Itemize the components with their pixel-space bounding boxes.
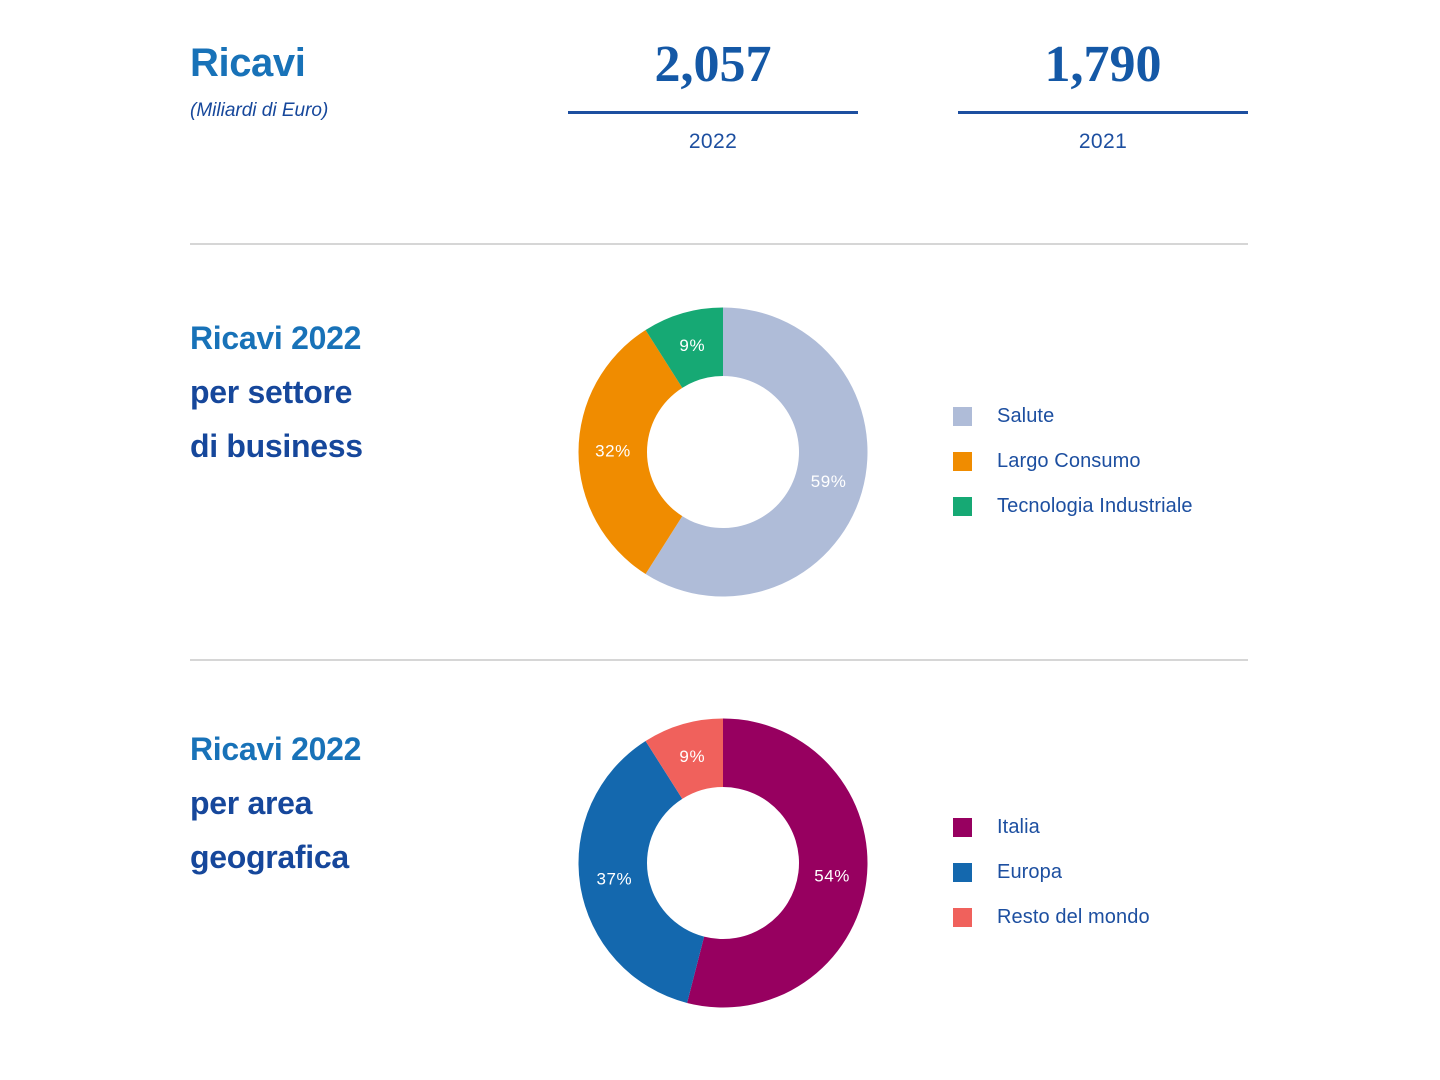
kpi-value: 1,790 — [958, 36, 1248, 94]
legend-item-label: Resto del mondo — [997, 906, 1150, 929]
legend-item-label: Tecnologia Industriale — [997, 495, 1193, 518]
page-title: Ricavi — [190, 42, 305, 84]
donut-slice-label: 59% — [811, 472, 847, 491]
donut-slice-label: 9% — [679, 747, 705, 766]
kpi-column-2022: 2,057 2022 — [568, 36, 858, 154]
infographic-page: Ricavi (Miliardi di Euro) 2,057 2022 1,7… — [0, 0, 1440, 1080]
donut-svg: 59%32%9% — [578, 300, 868, 604]
donut-slices — [579, 719, 868, 1008]
legend-swatch-icon — [953, 497, 972, 516]
section-title: Ricavi 2022 per area geografica — [190, 723, 520, 884]
legend-swatch-icon — [953, 863, 972, 882]
legend-item[interactable]: Largo Consumo — [953, 439, 1193, 484]
legend-item-label: Largo Consumo — [997, 450, 1141, 473]
donut-chart-business-sector: 59%32%9% — [578, 300, 868, 604]
section-title-line2: per settore — [190, 366, 520, 420]
legend-item-label: Salute — [997, 405, 1054, 428]
legend-swatch-icon — [953, 407, 972, 426]
section-title-line1: Ricavi 2022 — [190, 312, 520, 366]
legend-item[interactable]: Resto del mondo — [953, 895, 1150, 940]
kpi-column-2021: 1,790 2021 — [958, 36, 1248, 154]
kpi-value: 2,057 — [568, 36, 858, 94]
kpi-rule — [958, 111, 1248, 114]
kpi-year-label: 2022 — [568, 130, 858, 154]
kpi-year-label: 2021 — [958, 130, 1248, 154]
chart-legend: Italia Europa Resto del mondo — [953, 805, 1150, 940]
section-divider — [190, 659, 1248, 661]
donut-slice-label: 37% — [596, 870, 632, 889]
chart-legend: Salute Largo Consumo Tecnologia Industri… — [953, 394, 1193, 529]
legend-swatch-icon — [953, 452, 972, 471]
section-title-line3: di business — [190, 420, 520, 474]
legend-item[interactable]: Salute — [953, 394, 1193, 439]
legend-item[interactable]: Europa — [953, 850, 1150, 895]
donut-slice-label: 9% — [679, 336, 705, 355]
section-title-line3: geografica — [190, 831, 520, 885]
legend-item-label: Europa — [997, 861, 1062, 884]
section-divider — [190, 243, 1248, 245]
donut-slice-label: 54% — [814, 866, 850, 885]
legend-item[interactable]: Tecnologia Industriale — [953, 484, 1193, 529]
legend-item[interactable]: Italia — [953, 805, 1150, 850]
section-title-line2: per area — [190, 777, 520, 831]
donut-slice-label: 32% — [595, 441, 631, 460]
section-title: Ricavi 2022 per settore di business — [190, 312, 520, 473]
legend-item-label: Italia — [997, 816, 1040, 839]
legend-swatch-icon — [953, 908, 972, 927]
legend-swatch-icon — [953, 818, 972, 837]
kpi-rule — [568, 111, 858, 114]
section-title-line1: Ricavi 2022 — [190, 723, 520, 777]
page-subtitle: (Miliardi di Euro) — [190, 100, 328, 122]
donut-chart-geography: 54%37%9% — [578, 711, 868, 1015]
donut-svg: 54%37%9% — [578, 711, 868, 1015]
